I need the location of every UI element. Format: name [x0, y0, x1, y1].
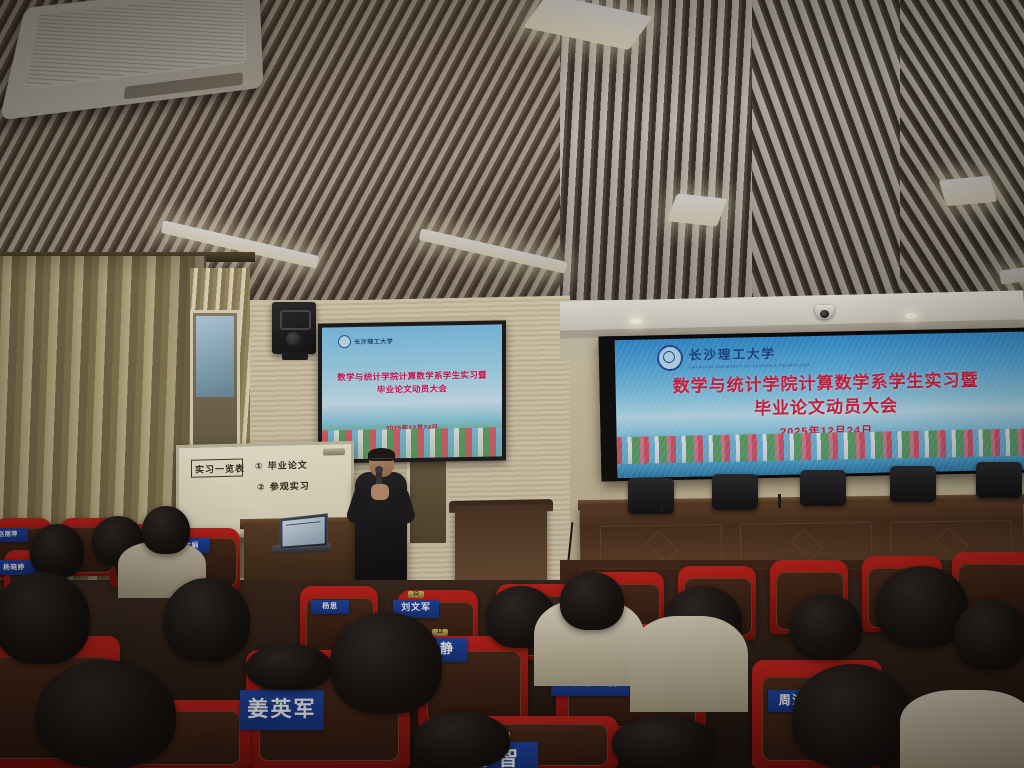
table-microphone-icon [660, 498, 663, 512]
university-seal-icon [657, 344, 684, 371]
audience-head [414, 712, 510, 768]
projection-title: 数学与统计学院计算数学系学生实习暨 毕业论文动员大会 [322, 368, 502, 397]
seat-number-badge: 12 [408, 591, 424, 598]
seat-name-label: 姜英军 [240, 690, 324, 730]
presidium-chair[interactable] [976, 462, 1022, 498]
audience-head [164, 578, 250, 662]
audience-shoulders [900, 690, 1024, 768]
audience-head [330, 612, 442, 714]
audience-head [790, 594, 862, 660]
presidium-chair[interactable] [712, 474, 758, 510]
presidium-chair[interactable] [890, 466, 936, 502]
table-microphone-icon [778, 494, 781, 508]
audience-head [36, 660, 176, 768]
presidium-chair[interactable] [628, 478, 674, 514]
audience-head [30, 524, 84, 578]
led-university-logo: 长沙理工大学 CHANGSHA UNIVERSITY OF SCIENCE & … [657, 342, 810, 371]
university-seal-icon [338, 335, 351, 348]
seat-name-label: 杨思 [311, 600, 349, 614]
projection-university-name: 长沙理工大学 [354, 336, 393, 346]
presidium-chair[interactable] [800, 470, 846, 506]
ceiling-light-fixture [939, 176, 998, 206]
door-glass-panel [196, 316, 234, 397]
recessed-downlight [630, 318, 642, 324]
laptop-icon[interactable] [280, 513, 328, 549]
whiteboard-note-2: ① 毕业论文 [255, 458, 308, 472]
projection-screen-surface: 长沙理工大学 数学与统计学院计算数学系学生实习暨 毕业论文动员大会 2025年1… [322, 324, 502, 459]
recessed-downlight [905, 313, 917, 319]
lectern [455, 504, 547, 584]
seat-name-label: 赵丽萍 [0, 528, 28, 542]
led-video-wall: 长沙理工大学 CHANGSHA UNIVERSITY OF SCIENCE & … [599, 328, 1024, 482]
seat-number-badge: 12 [432, 629, 448, 636]
doorway-left[interactable] [190, 310, 240, 456]
projection-university-logo: 长沙理工大学 [338, 334, 393, 348]
led-title: 数学与统计学院计算数学系学生实习暨 毕业论文动员大会 [615, 367, 1024, 424]
audience-head [246, 644, 332, 690]
glasses-icon [370, 458, 393, 463]
audience-head [792, 664, 912, 768]
whiteboard-note-3: ② 参观实习 [257, 479, 310, 493]
ceiling-light-fixture [667, 193, 728, 226]
led-university-name-en: CHANGSHA UNIVERSITY OF SCIENCE & TECHNOL… [689, 363, 810, 370]
auditorium-photo: 长沙理工大学 数学与统计学院计算数学系学生实习暨 毕业论文动员大会 2025年1… [0, 0, 1024, 768]
audience-shoulders [630, 616, 748, 712]
whiteboard-eraser-icon[interactable] [323, 448, 345, 456]
led-screen-surface: 长沙理工大学 CHANGSHA UNIVERSITY OF SCIENCE & … [615, 331, 1024, 478]
audience-head [612, 716, 716, 768]
ceiling-slats-center [560, 0, 760, 345]
whiteboard-note-1: 实习一览表 [195, 461, 245, 475]
presenter-hands [371, 484, 389, 500]
audience-head [560, 572, 624, 630]
speaker-mount-bracket [282, 352, 308, 360]
wall-loudspeaker-icon [272, 302, 316, 354]
audience-head [142, 506, 190, 554]
laptop-display [282, 517, 324, 547]
audience-head [0, 572, 90, 664]
led-university-name-cn: 长沙理工大学 [689, 347, 776, 363]
audience-head [954, 600, 1024, 670]
